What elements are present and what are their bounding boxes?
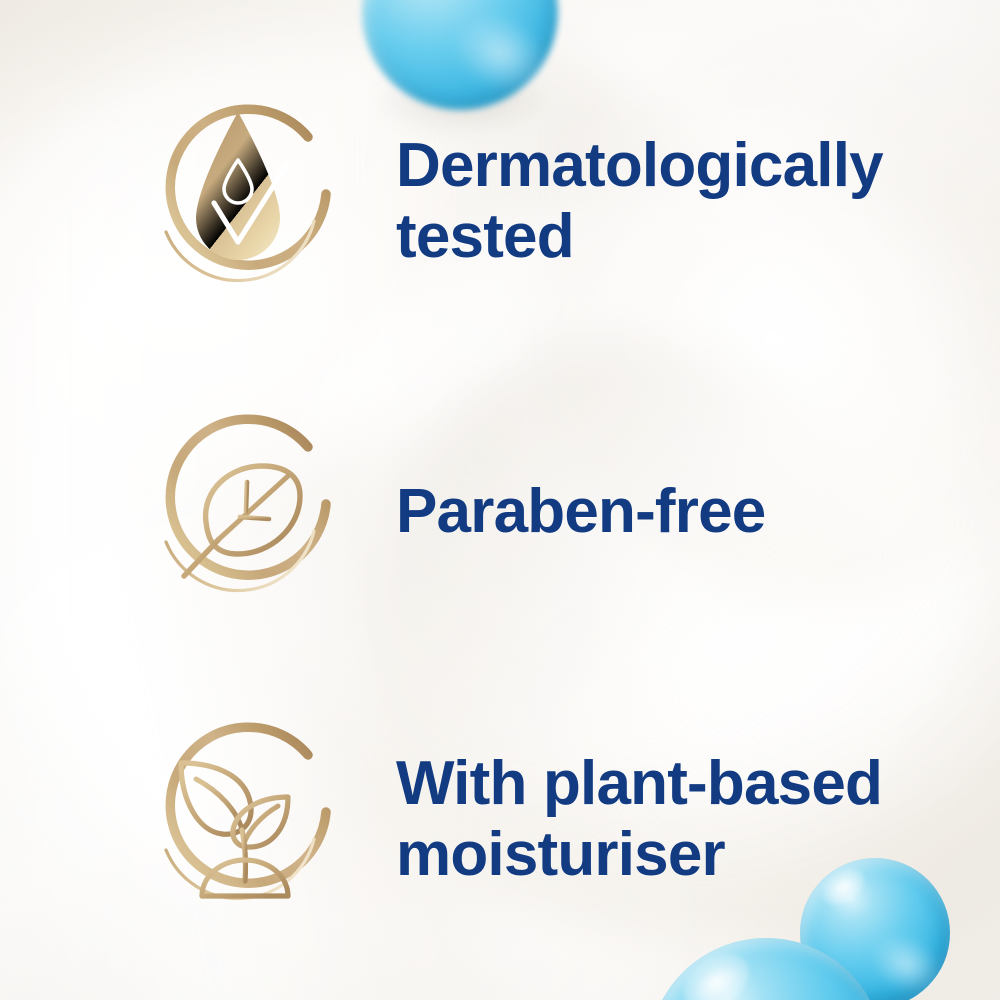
feature-label: Dermatologically tested bbox=[396, 131, 883, 272]
feature-list: Dermatologically tested bbox=[0, 0, 1000, 1000]
feature-row-paraben-free: Paraben-free bbox=[118, 392, 978, 632]
leaf-vein-upper bbox=[246, 482, 247, 511]
leaf-vein-lower bbox=[240, 517, 269, 519]
feature-label: With plant-based moisturiser bbox=[396, 749, 882, 890]
leaf-midrib bbox=[219, 476, 288, 539]
leaf-icon bbox=[118, 392, 358, 632]
banner-canvas: Dermatologically tested bbox=[0, 0, 1000, 1000]
feature-row-dermatologically-tested: Dermatologically tested bbox=[118, 82, 978, 322]
sprout-stem bbox=[242, 830, 246, 881]
sprout-icon bbox=[118, 700, 358, 940]
feature-label: Paraben-free bbox=[396, 477, 765, 548]
droplet-check-icon bbox=[118, 82, 358, 322]
